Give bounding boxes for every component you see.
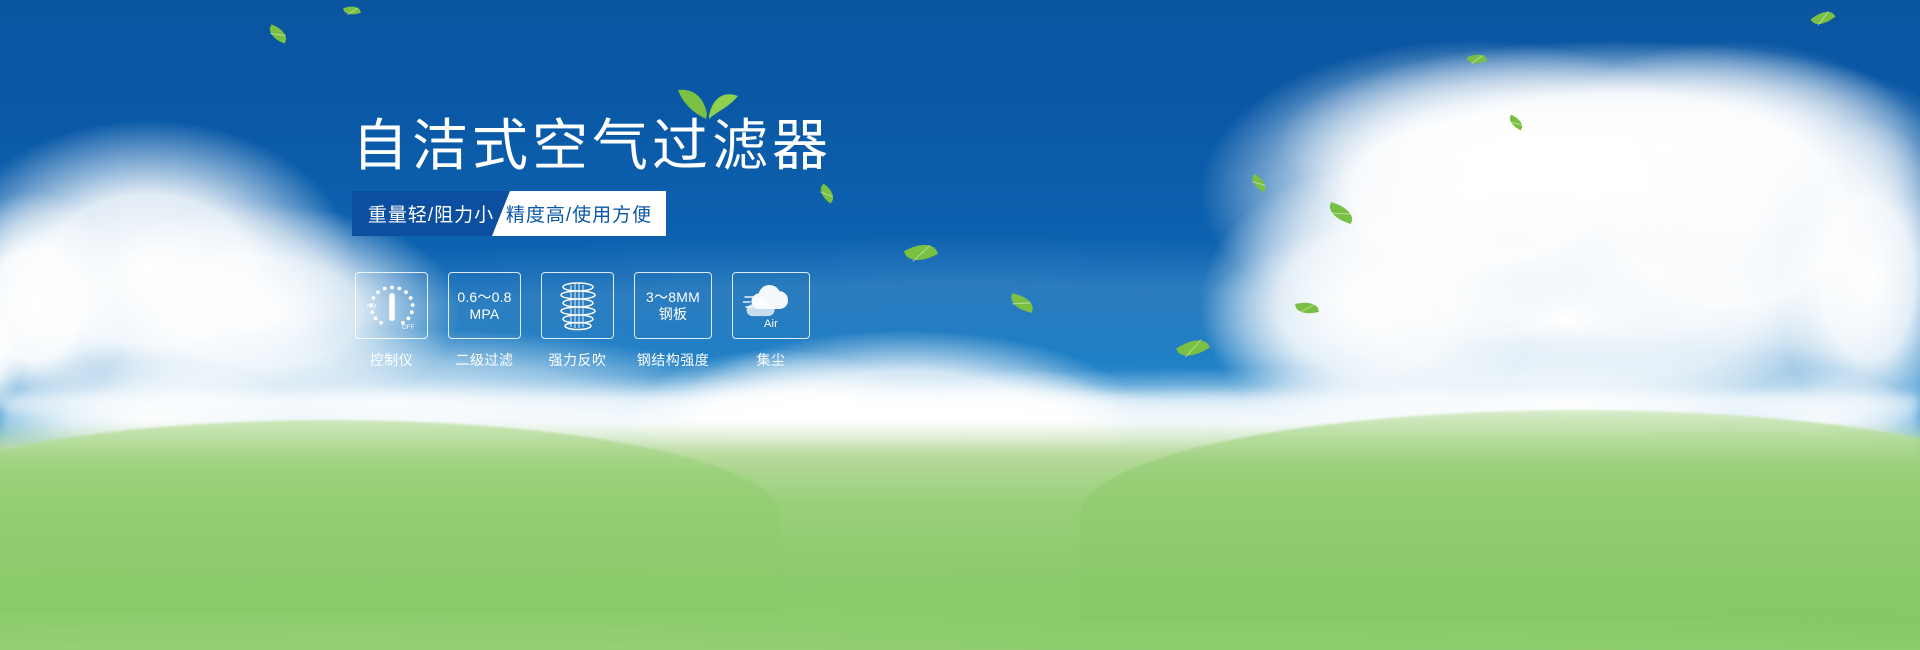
pressure-value-line2: MPA bbox=[468, 306, 502, 323]
steel-plate-line1: 3～8MM bbox=[644, 289, 702, 306]
tab-high-precision-easy-use[interactable]: 精度高/使用方便 bbox=[492, 191, 666, 236]
pressure-value-line1: 0.6～0.8 bbox=[455, 289, 513, 306]
feature-icon-row: NO OFF 控制仪 0.6～0.8 MPA 二级过滤 bbox=[356, 272, 809, 370]
air-cloud-icon-box: Air bbox=[732, 272, 810, 339]
air-cloud-icon: Air bbox=[743, 283, 799, 329]
feature-label-secondary-filter: 二级过滤 bbox=[456, 350, 514, 370]
pressure-icon-box: 0.6～0.8 MPA bbox=[448, 272, 521, 339]
feature-label-controller: 控制仪 bbox=[370, 350, 414, 370]
feature-label-dust-collection: 集尘 bbox=[757, 350, 786, 370]
filter-cartridge-icon bbox=[556, 280, 600, 332]
feature-item-secondary-filter[interactable]: 0.6～0.8 MPA 二级过滤 bbox=[449, 272, 520, 370]
tab-light-low-resistance[interactable]: 重量轻/阻力小 bbox=[352, 191, 510, 236]
controller-icon-box: NO OFF bbox=[355, 272, 428, 339]
product-banner: 自洁式空气过滤器 重量轻/阻力小 精度高/使用方便 bbox=[0, 0, 1920, 650]
air-label: Air bbox=[764, 318, 778, 329]
feature-item-steel-strength[interactable]: 3～8MM 钢板 钢结构强度 bbox=[635, 272, 711, 370]
feature-label-steel-strength: 钢结构强度 bbox=[637, 350, 710, 370]
feature-item-dust-collection[interactable]: Air 集尘 bbox=[733, 272, 809, 370]
filter-cartridge-icon-box bbox=[541, 272, 614, 339]
feature-item-controller[interactable]: NO OFF 控制仪 bbox=[356, 272, 427, 370]
feature-label-strong-blowback: 强力反吹 bbox=[549, 350, 607, 370]
page-title: 自洁式空气过滤器 bbox=[352, 118, 832, 174]
banner-content: 自洁式空气过滤器 重量轻/阻力小 精度高/使用方便 bbox=[0, 0, 1920, 650]
gauge-switch-icon: NO OFF bbox=[366, 281, 418, 331]
leaf-pair-icon bbox=[676, 86, 740, 120]
steel-plate-icon-box: 3～8MM 钢板 bbox=[634, 272, 712, 339]
gauge-no-label: NO bbox=[367, 304, 377, 310]
steel-plate-line2: 钢板 bbox=[657, 306, 689, 323]
feature-item-strong-blowback[interactable]: 强力反吹 bbox=[542, 272, 613, 370]
feature-tab-group: 重量轻/阻力小 精度高/使用方便 bbox=[352, 191, 666, 236]
gauge-off-label: OFF bbox=[402, 325, 415, 331]
